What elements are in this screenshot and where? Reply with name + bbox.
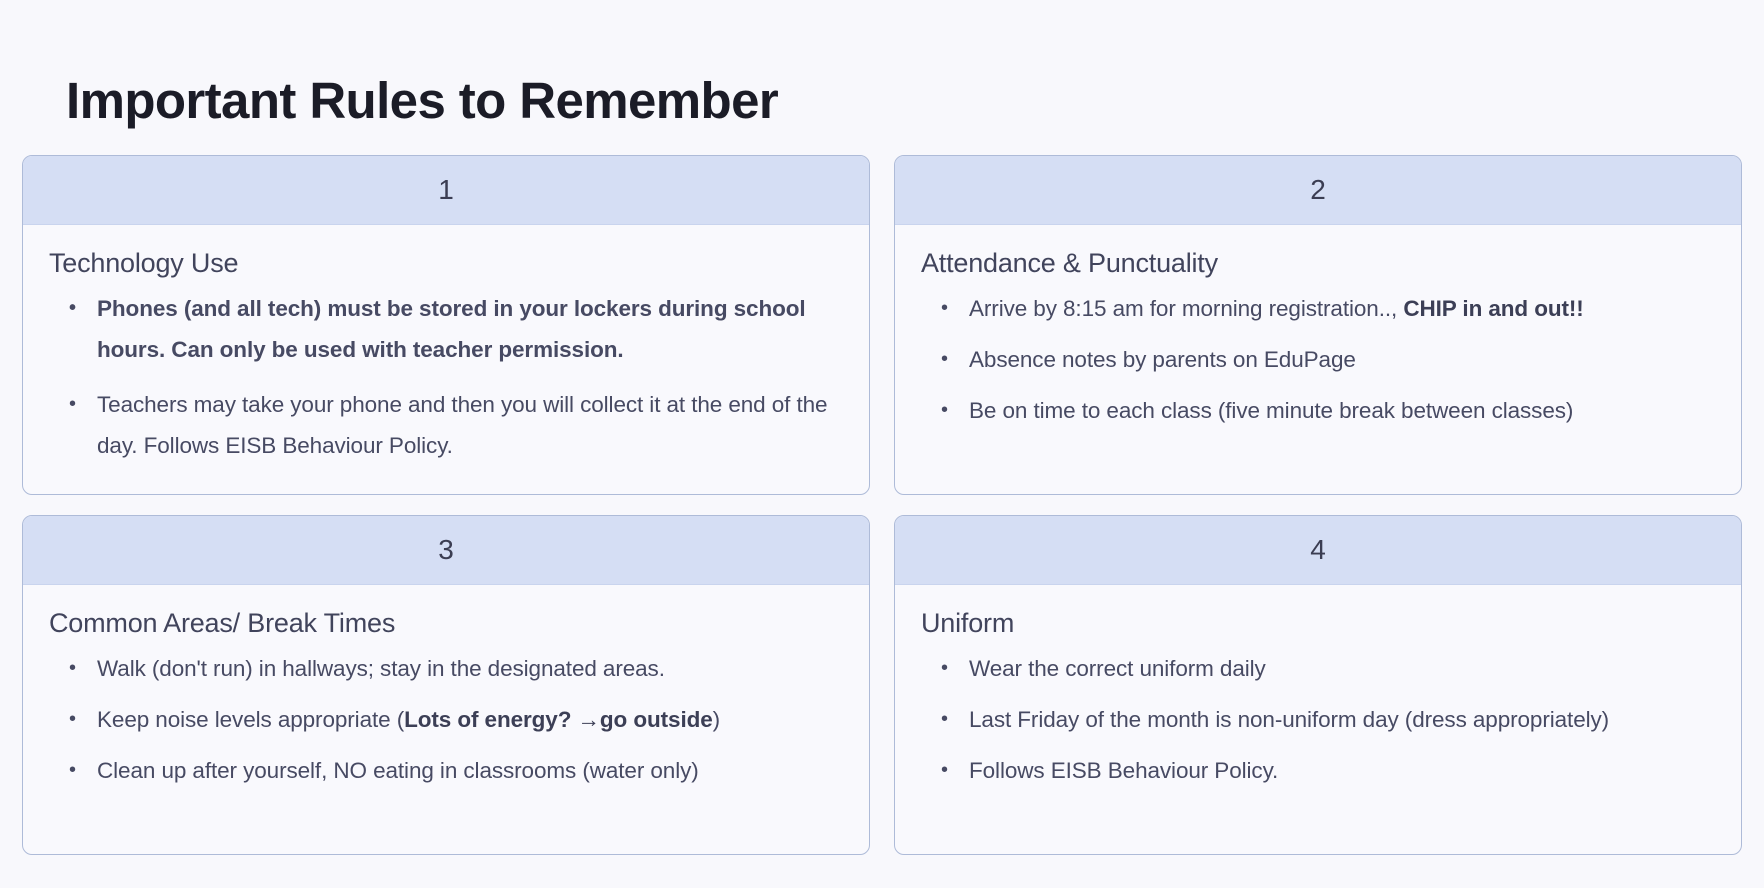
rule-bullet-text: Keep noise levels appropriate ( — [97, 707, 404, 732]
rule-bullet-text: Be on time to each class (five minute br… — [969, 398, 1573, 423]
rule-card-body: Attendance & PunctualityArrive by 8:15 a… — [895, 225, 1741, 494]
rule-bullet-text: Teachers may take your phone and then yo… — [97, 392, 827, 458]
rule-bullet-item: Keep noise levels appropriate (Lots of e… — [49, 700, 843, 741]
rule-bullet-item: Arrive by 8:15 am for morning registrati… — [921, 289, 1715, 330]
rule-bullet-list: Walk (don't run) in hallways; stay in th… — [49, 649, 843, 792]
rule-bullet-item: Teachers may take your phone and then yo… — [49, 385, 843, 467]
rule-card-header: 4 — [895, 516, 1741, 585]
rule-bullet-emphasis: Phones (and all tech) must be stored in … — [97, 296, 806, 362]
rule-bullet-list: Phones (and all tech) must be stored in … — [49, 289, 843, 467]
rules-card-grid: 1Technology UsePhones (and all tech) mus… — [22, 155, 1742, 855]
page-title: Important Rules to Remember — [66, 70, 778, 132]
rule-card: 2Attendance & PunctualityArrive by 8:15 … — [894, 155, 1742, 495]
rule-card-number: 3 — [438, 536, 454, 564]
rule-bullet-item: Absence notes by parents on EduPage — [921, 340, 1715, 381]
rule-card-number: 1 — [438, 176, 454, 204]
rule-card: 3Common Areas/ Break TimesWalk (don't ru… — [22, 515, 870, 855]
rule-bullet-text: Wear the correct uniform daily — [969, 656, 1266, 681]
rule-card: 4UniformWear the correct uniform dailyLa… — [894, 515, 1742, 855]
rule-bullet-emphasis: CHIP in and out!! — [1403, 296, 1583, 321]
rule-bullet-emphasis: Lots of energy? →go outside — [404, 707, 713, 732]
rule-bullet-text: ) — [713, 707, 720, 732]
rule-card-body: Common Areas/ Break TimesWalk (don't run… — [23, 585, 869, 854]
rule-bullet-item: Phones (and all tech) must be stored in … — [49, 289, 843, 371]
rule-bullet-list: Wear the correct uniform dailyLast Frida… — [921, 649, 1715, 792]
rule-bullet-text: Last Friday of the month is non-uniform … — [969, 707, 1609, 732]
rule-bullet-text: Follows EISB Behaviour Policy. — [969, 758, 1278, 783]
rule-card-body: UniformWear the correct uniform dailyLas… — [895, 585, 1741, 854]
rule-card-header: 2 — [895, 156, 1741, 225]
rules-page: Important Rules to Remember 1Technology … — [0, 0, 1764, 888]
rule-card-subtitle: Technology Use — [49, 247, 843, 279]
rule-bullet-text: Clean up after yourself, NO eating in cl… — [97, 758, 699, 783]
rule-card-number: 2 — [1310, 176, 1326, 204]
rule-card-body: Technology UsePhones (and all tech) must… — [23, 225, 869, 494]
rule-bullet-text: Walk (don't run) in hallways; stay in th… — [97, 656, 665, 681]
rule-card: 1Technology UsePhones (and all tech) mus… — [22, 155, 870, 495]
rule-bullet-item: Wear the correct uniform daily — [921, 649, 1715, 690]
rule-bullet-text: Arrive by 8:15 am for morning registrati… — [969, 296, 1403, 321]
rule-card-subtitle: Common Areas/ Break Times — [49, 607, 843, 639]
rule-bullet-item: Last Friday of the month is non-uniform … — [921, 700, 1715, 741]
rule-bullet-item: Be on time to each class (five minute br… — [921, 391, 1715, 432]
rule-bullet-item: Follows EISB Behaviour Policy. — [921, 751, 1715, 792]
rule-bullet-item: Clean up after yourself, NO eating in cl… — [49, 751, 843, 792]
rule-bullet-text: Absence notes by parents on EduPage — [969, 347, 1356, 372]
rule-card-subtitle: Uniform — [921, 607, 1715, 639]
rule-bullet-item: Walk (don't run) in hallways; stay in th… — [49, 649, 843, 690]
rule-card-header: 1 — [23, 156, 869, 225]
rule-card-number: 4 — [1310, 536, 1326, 564]
rule-card-subtitle: Attendance & Punctuality — [921, 247, 1715, 279]
rule-bullet-list: Arrive by 8:15 am for morning registrati… — [921, 289, 1715, 432]
rule-card-header: 3 — [23, 516, 869, 585]
